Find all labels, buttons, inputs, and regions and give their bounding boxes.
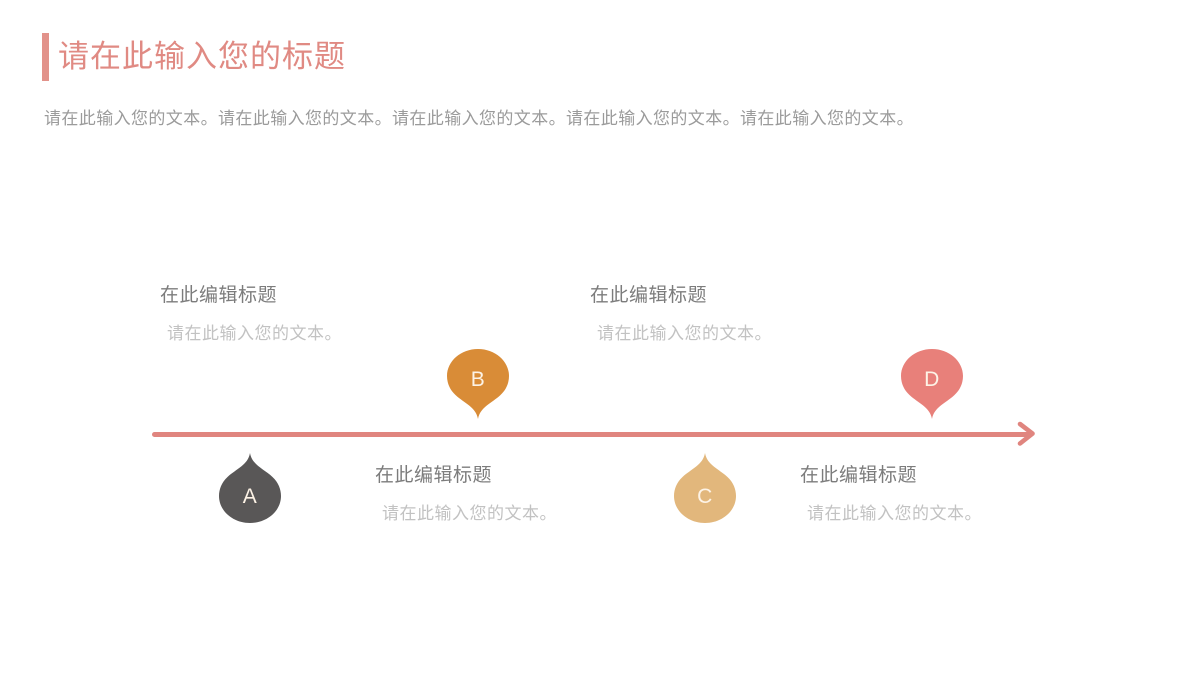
- timeline-marker-a-letter: A: [218, 485, 282, 509]
- arrow-right-icon: [1017, 421, 1043, 447]
- title-accent-bar: [42, 33, 49, 81]
- timeline-marker-a[interactable]: A: [218, 452, 282, 524]
- timeline-label-bottom-right-desc: 请在此输入您的文本。: [807, 501, 1140, 527]
- slide-canvas: 请在此输入您的标题 请在此输入您的文本。请在此输入您的文本。请在此输入您的文本。…: [0, 0, 1200, 675]
- intro-paragraph: 请在此输入您的文本。请在此输入您的文本。请在此输入您的文本。请在此输入您的文本。…: [44, 101, 1089, 137]
- timeline-marker-b-letter: B: [446, 368, 510, 392]
- timeline-label-top-right-desc: 请在此输入您的文本。: [597, 321, 930, 347]
- timeline-label-bottom-left[interactable]: 在此编辑标题 请在此输入您的文本。: [375, 463, 715, 527]
- timeline-axis-line: [152, 432, 1030, 437]
- page-title: 请在此输入您的标题: [49, 33, 346, 81]
- timeline-marker-d[interactable]: D: [900, 348, 964, 420]
- timeline-marker-b[interactable]: B: [446, 348, 510, 420]
- timeline-label-bottom-left-title: 在此编辑标题: [375, 463, 715, 489]
- timeline-label-top-left[interactable]: 在此编辑标题 请在此输入您的文本。: [160, 283, 500, 347]
- timeline-label-top-left-desc: 请在此输入您的文本。: [167, 321, 500, 347]
- timeline-label-bottom-left-desc: 请在此输入您的文本。: [382, 501, 715, 527]
- timeline-label-bottom-right[interactable]: 在此编辑标题 请在此输入您的文本。: [800, 463, 1140, 527]
- timeline-label-top-right-title: 在此编辑标题: [590, 283, 930, 309]
- timeline-label-top-left-title: 在此编辑标题: [160, 283, 500, 309]
- timeline-marker-d-letter: D: [900, 368, 964, 392]
- timeline-label-bottom-right-title: 在此编辑标题: [800, 463, 1140, 489]
- page-title-block: 请在此输入您的标题: [42, 33, 346, 81]
- timeline-label-top-right[interactable]: 在此编辑标题 请在此输入您的文本。: [590, 283, 930, 347]
